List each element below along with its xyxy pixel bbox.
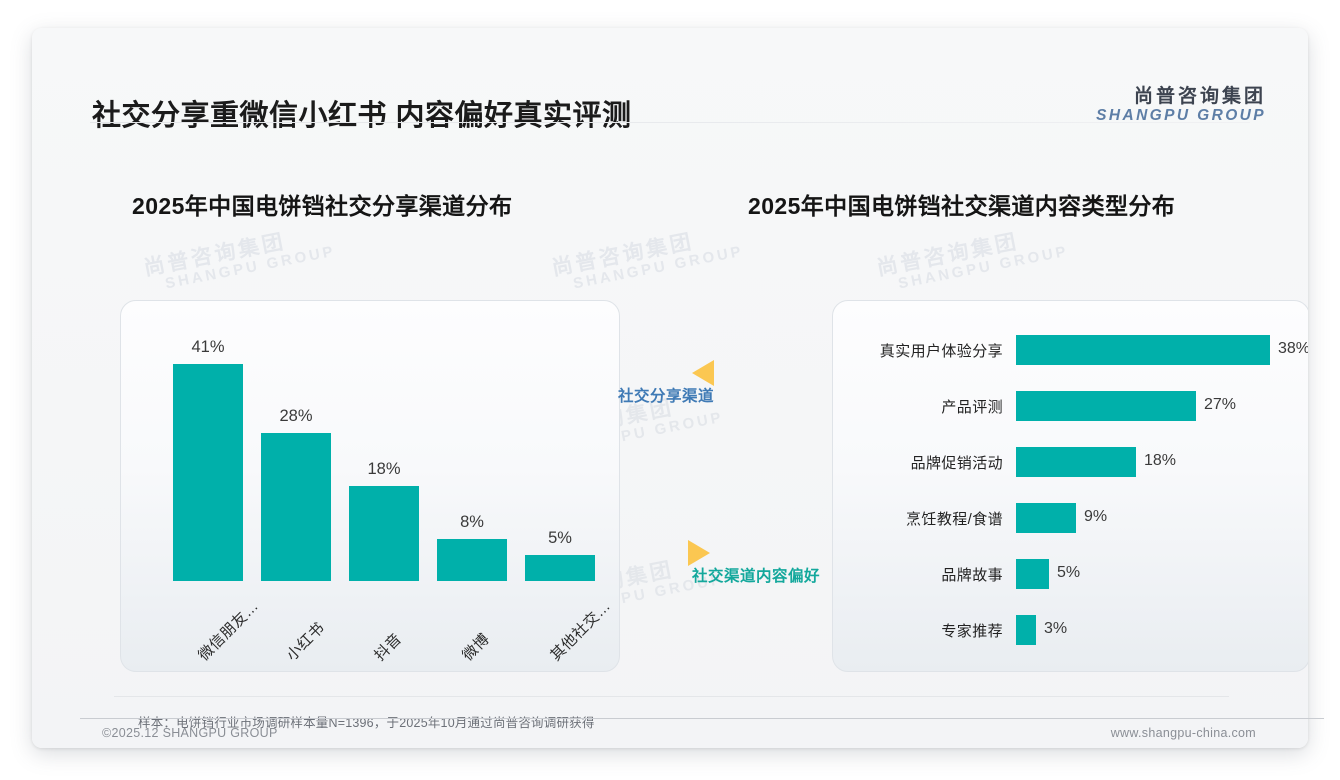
y-axis-tick-label: 烹饪教程/食谱 <box>833 508 1003 529</box>
bar-row: 品牌促销活动18% <box>833 445 1308 479</box>
bar-value-label: 18% <box>333 460 435 479</box>
bar-row: 产品评测27% <box>833 389 1308 423</box>
bar[interactable] <box>1016 615 1036 645</box>
bar-row: 烹饪教程/食谱9% <box>833 501 1308 535</box>
bar-row: 专家推荐3% <box>833 613 1308 647</box>
bar[interactable] <box>1016 447 1136 477</box>
bar-row: 真实用户体验分享38% <box>833 333 1308 367</box>
y-axis-tick-label: 品牌促销活动 <box>833 452 1003 473</box>
watermark: 尚普咨询集团 SHANGPU GROUP <box>875 222 1070 296</box>
bar[interactable] <box>1016 335 1270 365</box>
bar[interactable] <box>525 555 595 581</box>
bar-value-label: 27% <box>1204 396 1236 414</box>
bar-value-label: 3% <box>1044 620 1067 638</box>
watermark-en: SHANGPU GROUP <box>879 244 1070 296</box>
bar[interactable] <box>1016 391 1196 421</box>
x-axis-tick-label: 小红书 <box>281 617 329 665</box>
header-divider <box>90 122 1250 123</box>
bar-value-label: 41% <box>157 338 259 357</box>
annotation-label: 社交分享渠道 <box>618 388 714 405</box>
bar[interactable] <box>349 486 419 581</box>
bar-value-label: 5% <box>509 529 611 548</box>
brand-logo: 尚普咨询集团 SHANGPU GROUP <box>1096 86 1266 125</box>
slide-canvas: 社交分享重微信小红书 内容偏好真实评测 尚普咨询集团 SHANGPU GROUP… <box>32 28 1308 748</box>
bar[interactable] <box>173 364 243 581</box>
right-chart-title: 2025年中国电饼铛社交渠道内容类型分布 <box>748 187 1175 221</box>
bar-group: 8%微博 <box>437 301 507 671</box>
bar-value-label: 28% <box>245 407 347 426</box>
right-chart-panel: 真实用户体验分享38%产品评测27%品牌促销活动18%烹饪教程/食谱9%品牌故事… <box>832 300 1308 672</box>
y-axis-tick-label: 真实用户体验分享 <box>833 340 1003 361</box>
watermark-en: SHANGPU GROUP <box>554 244 745 296</box>
annotation-social-share-channel: 社交分享渠道 <box>618 384 714 406</box>
bar-value-label: 18% <box>1144 452 1176 470</box>
bar-value-label: 5% <box>1057 564 1080 582</box>
x-axis-tick-label: 抖音 <box>369 628 406 665</box>
bar[interactable] <box>1016 503 1076 533</box>
y-axis-tick-label: 专家推荐 <box>833 620 1003 641</box>
annotation-label: 社交渠道内容偏好 <box>692 568 820 585</box>
bar[interactable] <box>437 539 507 581</box>
website-link[interactable]: www.shangpu-china.com <box>1111 726 1256 740</box>
note-divider <box>114 696 1229 697</box>
bar[interactable] <box>261 433 331 581</box>
watermark-en: SHANGPU GROUP <box>146 244 337 296</box>
y-axis-tick-label: 品牌故事 <box>833 564 1003 585</box>
bar[interactable] <box>1016 559 1049 589</box>
watermark-cn: 尚普咨询集团 <box>550 222 742 280</box>
brand-name-cn: 尚普咨询集团 <box>1096 86 1266 107</box>
left-chart-panel: 41%微信朋友…28%小红书18%抖音8%微博5%其他社交… <box>120 300 620 672</box>
bar-row: 品牌故事5% <box>833 557 1308 591</box>
bar-group: 28%小红书 <box>261 301 331 671</box>
watermark: 尚普咨询集团 SHANGPU GROUP <box>142 222 337 296</box>
slide-footer: ©2025.12 SHANGPU GROUP www.shangpu-china… <box>32 718 1308 748</box>
triangle-right-icon <box>688 540 710 566</box>
footer-divider <box>80 718 1324 719</box>
bar-value-label: 9% <box>1084 508 1107 526</box>
slide-header: 社交分享重微信小红书 内容偏好真实评测 尚普咨询集团 SHANGPU GROUP <box>32 28 1308 124</box>
watermark-cn: 尚普咨询集团 <box>875 222 1067 280</box>
bar-value-label: 38% <box>1278 340 1308 358</box>
bar-group: 5%其他社交… <box>525 301 595 671</box>
triangle-left-icon <box>692 360 714 386</box>
y-axis-tick-label: 产品评测 <box>833 396 1003 417</box>
vertical-bar-chart: 41%微信朋友…28%小红书18%抖音8%微博5%其他社交… <box>121 301 619 671</box>
annotation-content-preference: 社交渠道内容偏好 <box>692 564 820 586</box>
bar-value-label: 8% <box>421 513 523 532</box>
watermark-cn: 尚普咨询集团 <box>142 222 334 280</box>
x-axis-tick-label: 微博 <box>457 628 494 665</box>
x-axis-tick-label: 其他社交… <box>545 595 615 665</box>
left-chart-title: 2025年中国电饼铛社交分享渠道分布 <box>132 187 512 221</box>
bar-group: 41%微信朋友… <box>173 301 243 671</box>
x-axis-tick-label: 微信朋友… <box>193 595 263 665</box>
bar-group: 18%抖音 <box>349 301 419 671</box>
page-title: 社交分享重微信小红书 内容偏好真实评测 <box>92 92 632 134</box>
watermark: 尚普咨询集团 SHANGPU GROUP <box>550 222 745 296</box>
horizontal-bar-chart: 真实用户体验分享38%产品评测27%品牌促销活动18%烹饪教程/食谱9%品牌故事… <box>833 301 1308 671</box>
copyright-text: ©2025.12 SHANGPU GROUP <box>102 726 278 740</box>
